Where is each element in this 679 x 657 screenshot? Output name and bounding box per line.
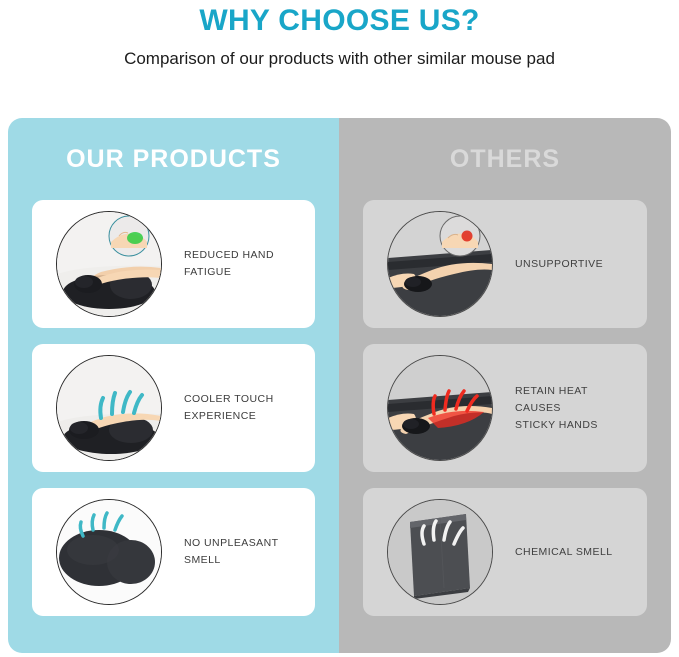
column-our-products: OUR PRODUCTS: [8, 118, 339, 653]
list-item[interactable]: UNSUPPORTIVE: [363, 200, 647, 328]
no-unpleasant-smell-image: [56, 499, 162, 605]
others-card-list: UNSUPPORTIVE: [339, 200, 671, 616]
page-title: WHY CHOOSE US?: [0, 0, 679, 38]
chemical-smell-image: [387, 499, 493, 605]
caption-line-1: COOLER TOUCH: [184, 391, 299, 408]
list-item[interactable]: RETAIN HEAT CAUSES STICKY HANDS: [363, 344, 647, 472]
list-item-caption: RETAIN HEAT CAUSES STICKY HANDS: [493, 383, 637, 434]
reduced-hand-fatigue-image: [56, 211, 162, 317]
list-item[interactable]: NO UNPLEASANT SMELL: [32, 488, 315, 616]
list-item-caption: COOLER TOUCH EXPERIENCE: [162, 391, 305, 425]
others-heading: OTHERS: [339, 118, 671, 200]
retain-heat-sticky-hands-image: [387, 355, 493, 461]
column-others: OTHERS: [339, 118, 671, 653]
page-header: WHY CHOOSE US? Comparison of our product…: [0, 0, 679, 70]
caption-line-2: EXPERIENCE: [184, 408, 299, 425]
cooler-touch-experience-image: [56, 355, 162, 461]
list-item-caption: UNSUPPORTIVE: [493, 256, 637, 273]
list-item-caption: NO UNPLEASANT SMELL: [162, 535, 305, 569]
list-item-caption: CHEMICAL SMELL: [493, 544, 637, 561]
caption-line-1: RETAIN HEAT CAUSES: [515, 383, 631, 417]
unsupportive-image: [387, 211, 493, 317]
list-item[interactable]: CHEMICAL SMELL: [363, 488, 647, 616]
comparison-panel: OUR PRODUCTS: [8, 118, 671, 653]
list-item[interactable]: REDUCED HAND FATIGUE: [32, 200, 315, 328]
list-item[interactable]: COOLER TOUCH EXPERIENCE: [32, 344, 315, 472]
caption-line-2: STICKY HANDS: [515, 417, 631, 434]
page-subtitle: Comparison of our products with other si…: [0, 38, 679, 70]
our-products-card-list: REDUCED HAND FATIGUE: [8, 200, 339, 616]
list-item-caption: REDUCED HAND FATIGUE: [162, 247, 305, 281]
our-products-heading: OUR PRODUCTS: [8, 118, 339, 200]
